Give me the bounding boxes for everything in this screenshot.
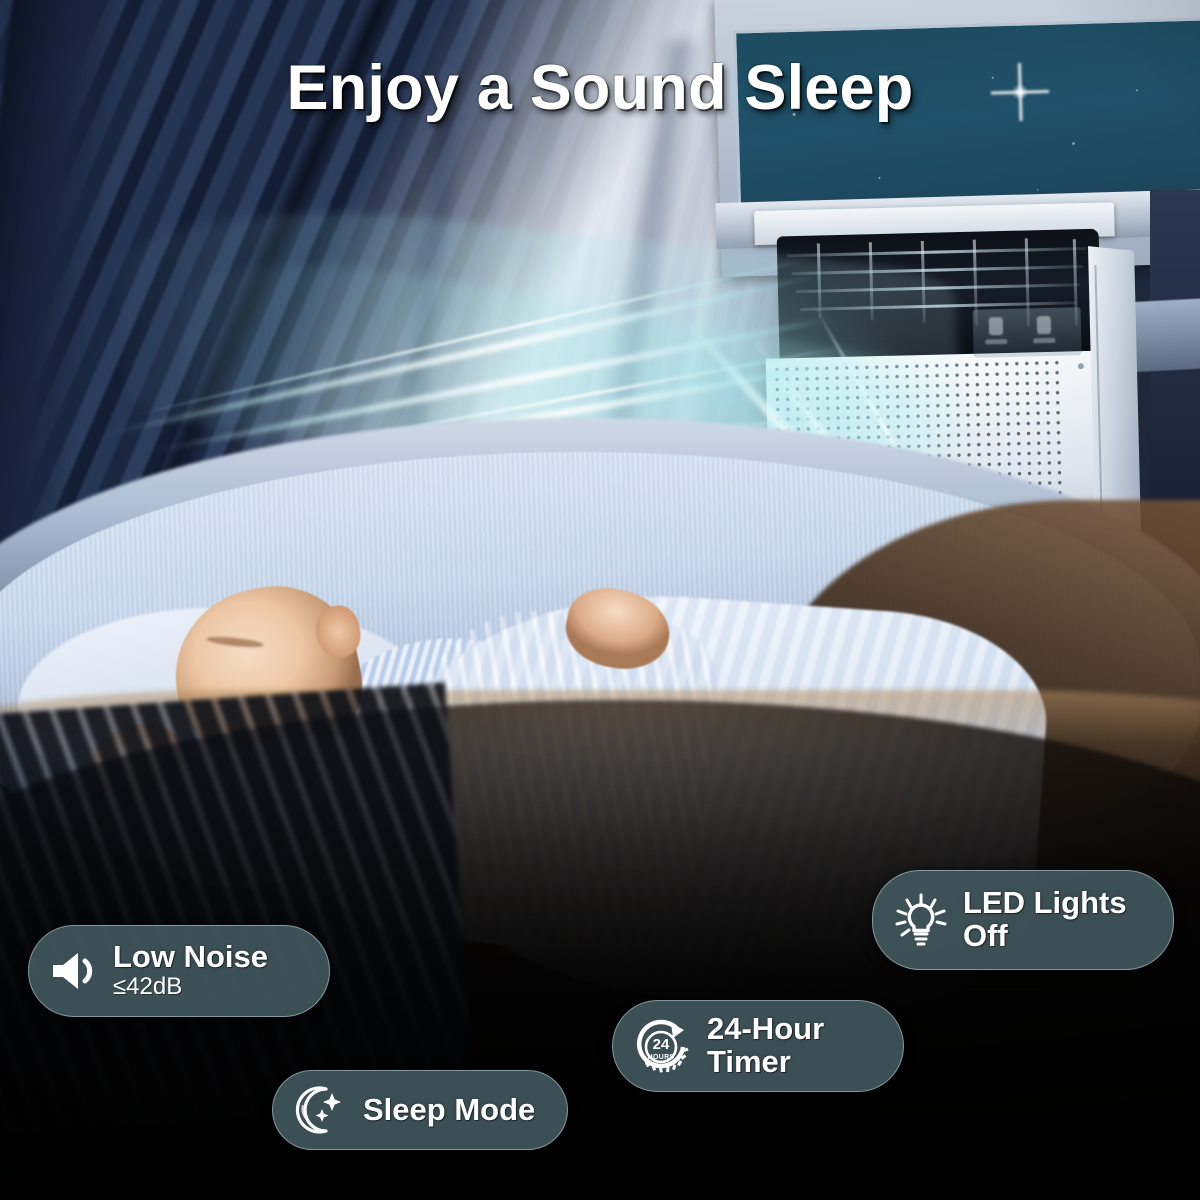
- feature-badge-sleep-mode[interactable]: Sleep Mode: [272, 1070, 568, 1150]
- feature-label-line1: 24-Hour: [707, 1013, 824, 1046]
- lightbulb-icon: [893, 891, 949, 949]
- feature-badge-24-hour-timer[interactable]: 24 HOURS 24-Hour Timer: [612, 1000, 904, 1092]
- feature-label-line1: LED Lights: [963, 887, 1127, 920]
- product-feature-image: Enjoy a Sound Sleep Low Noise ≤42dB: [0, 0, 1200, 1200]
- svg-text:24: 24: [653, 1036, 670, 1053]
- feature-sublabel: ≤42dB: [113, 974, 268, 1001]
- feature-label-line2: Timer: [707, 1046, 824, 1079]
- svg-text:HOURS: HOURS: [648, 1054, 675, 1061]
- vignette-overlay: [0, 0, 1200, 1200]
- 24-hour-clock-icon: 24 HOURS: [633, 1017, 693, 1075]
- crescent-moon-icon: [293, 1083, 349, 1137]
- speaker-icon: [49, 948, 99, 994]
- feature-label: Sleep Mode: [363, 1094, 535, 1127]
- feature-badge-low-noise[interactable]: Low Noise ≤42dB: [28, 925, 330, 1017]
- page-title: Enjoy a Sound Sleep: [0, 52, 1200, 124]
- feature-badge-led-lights-off[interactable]: LED Lights Off: [872, 870, 1174, 970]
- feature-label-line2: Off: [963, 920, 1127, 953]
- feature-label: Low Noise: [113, 941, 268, 974]
